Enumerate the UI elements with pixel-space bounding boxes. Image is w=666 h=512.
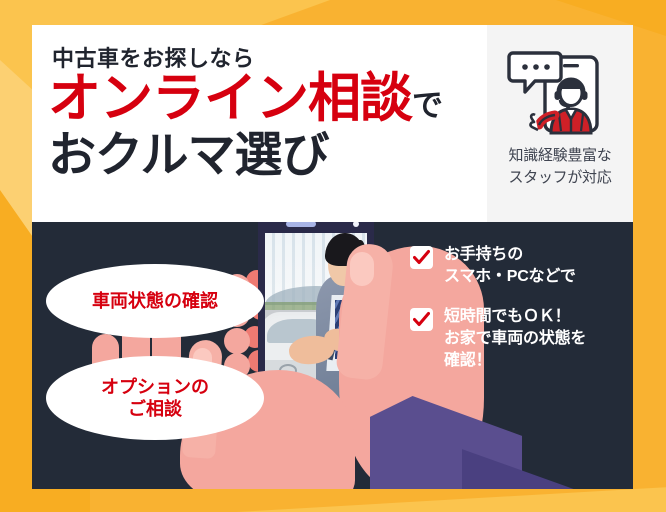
check-mark-icon [410, 246, 433, 269]
speaker-grill-icon [286, 222, 316, 227]
benefit-checklist: お手持ちの スマホ・PCなどで 短時間でもＯＫ！ お家で車両の状態を 確認！ [410, 244, 625, 390]
page-title: オンライン相談で [48, 72, 442, 125]
staff-caption-line-2: スタッフが対応 [487, 167, 633, 189]
headline-highlight: オンライン相談 [48, 69, 412, 128]
callout-label-line-1: オプションの [101, 377, 209, 397]
front-camera-dot-icon [353, 222, 359, 227]
checklist-item: 短時間でもＯＫ！ お家で車両の状態を 確認！ [410, 306, 625, 372]
checklist-text: 短時間でもＯＫ！ お家で車両の状態を 確認！ [444, 306, 586, 372]
checklist-item: お手持ちの スマホ・PCなどで [410, 244, 625, 288]
check-mark-icon [410, 308, 433, 331]
callout-label: 車両状態の確認 [92, 290, 218, 313]
headline-card-left: 中古車をお探しなら オンライン相談で おクルマ選び [32, 25, 487, 222]
callout-label-line-2: ご相談 [128, 399, 182, 419]
checklist-text: お手持ちの スマホ・PCなどで [444, 244, 576, 288]
headline-card: 中古車をお探しなら オンライン相談で おクルマ選び [32, 25, 633, 222]
feature-panel: 車両状態の確認 オプションの ご相談 お手持ちの スマホ・PCなどで 短時間でも… [32, 222, 633, 489]
staff-badge-caption: 知識経験豊富な スタッフが対応 [487, 145, 633, 189]
thumb-nail [350, 252, 374, 286]
callout-vehicle-condition: 車両状態の確認 [46, 264, 264, 338]
operator-headset-screen-icon [505, 43, 613, 143]
callout-option-consultation: オプションの ご相談 [46, 356, 264, 440]
callout-label: オプションの ご相談 [101, 376, 209, 421]
headline-second-line: おクルマ選び [48, 132, 329, 180]
staff-caption-line-1: 知識経験豊富な [487, 145, 633, 167]
headline-suffix: で [412, 88, 442, 123]
background-triangle-bottom [150, 487, 666, 512]
banner-canvas: 中古車をお探しなら オンライン相談で おクルマ選び [0, 0, 666, 512]
staff-badge: 知識経験豊富な スタッフが対応 [487, 25, 633, 222]
